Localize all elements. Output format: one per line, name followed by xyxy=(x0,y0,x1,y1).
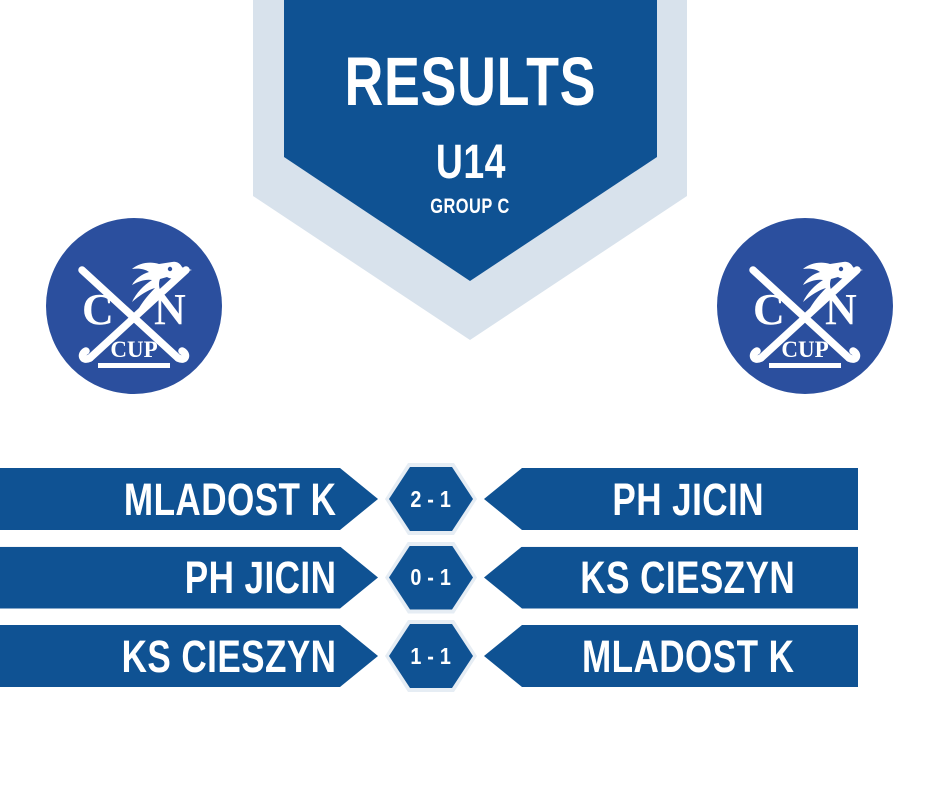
score-text: 2 - 1 xyxy=(411,488,452,511)
crest-cup-text: CUP xyxy=(110,337,157,362)
crest-cup-text: CUP xyxy=(781,337,828,362)
home-team-bar[interactable]: MLADOST K xyxy=(0,468,378,530)
away-team-bar[interactable]: MLADOST K xyxy=(484,625,858,687)
away-team-name: PH JICIN xyxy=(612,477,764,522)
score-badge[interactable]: 2 - 1 xyxy=(385,463,477,535)
home-team-bar[interactable]: KS CIESZYN xyxy=(0,625,378,687)
away-team-name: MLADOST K xyxy=(582,634,794,679)
home-team-bar[interactable]: PH JICIN xyxy=(0,547,378,609)
away-team-bar[interactable]: PH JICIN xyxy=(484,468,858,530)
score-text: 1 - 1 xyxy=(411,645,452,668)
crest-underline xyxy=(769,363,841,368)
match-results-list: MLADOST K 2 - 1 PH JICIN PH JICIN 0 - 1 … xyxy=(0,460,940,695)
crest-logo-left: C N CUP xyxy=(46,218,222,394)
score-text: 0 - 1 xyxy=(411,566,452,589)
away-team-bar[interactable]: KS CIESZYN xyxy=(484,547,858,609)
crest-underline xyxy=(98,363,170,368)
away-team-name: KS CIESZYN xyxy=(581,555,796,600)
home-team-name: KS CIESZYN xyxy=(121,634,336,679)
crest-letter-c: C xyxy=(82,285,114,334)
match-row[interactable]: KS CIESZYN 1 - 1 MLADOST K xyxy=(0,617,940,695)
home-team-name: MLADOST K xyxy=(124,477,336,522)
score-badge[interactable]: 0 - 1 xyxy=(385,542,477,614)
match-row[interactable]: PH JICIN 0 - 1 KS CIESZYN xyxy=(0,538,940,617)
match-row[interactable]: MLADOST K 2 - 1 PH JICIN xyxy=(0,460,940,538)
score-badge[interactable]: 1 - 1 xyxy=(385,620,477,692)
crest-letter-n: N xyxy=(825,285,857,334)
crest-logo-right: C N CUP xyxy=(717,218,893,394)
crest-letter-c: C xyxy=(753,285,785,334)
crest-letter-n: N xyxy=(154,285,186,334)
home-team-name: PH JICIN xyxy=(184,555,336,600)
